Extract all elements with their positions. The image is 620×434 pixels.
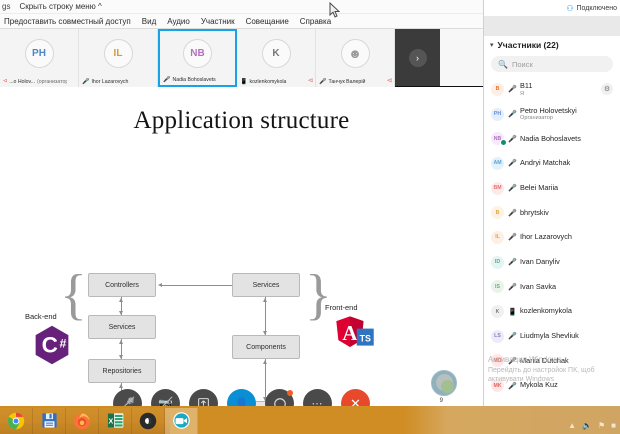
- avatar: AM: [491, 157, 504, 170]
- participant-sub: Я: [520, 91, 532, 97]
- backend-label: Back-end: [25, 312, 57, 321]
- avatar: IL: [104, 39, 133, 68]
- mic-off-icon: ⏿: [387, 77, 392, 85]
- avatar: IL: [491, 231, 504, 244]
- next-page-button[interactable]: ›: [395, 29, 440, 86]
- phone-icon: 📱: [508, 308, 516, 316]
- mic-icon: 🎤: [508, 332, 516, 340]
- mic-icon: 🎤: [163, 76, 170, 83]
- mic-off-icon: ⏿: [3, 78, 7, 85]
- arrow-up-icon: [119, 384, 123, 388]
- list-item[interactable]: B 🎤 B11 Я ⚙: [488, 77, 616, 102]
- participant-role: (организатор): [37, 79, 67, 85]
- arrow-down-icon: [119, 355, 123, 359]
- search-input[interactable]: [512, 60, 606, 69]
- thumbnail-name-bar: 📱 kozlenkomykola: [240, 78, 304, 85]
- svg-text:C: C: [42, 333, 58, 358]
- participant-name: Ihor Lazarovych: [91, 79, 128, 85]
- screen-root: gs Скрыть строку меню ^ Предоставить сов…: [0, 0, 620, 434]
- participant-name: Ivan Danyliv: [520, 258, 560, 266]
- participant-name: Ihor Lazarovych: [520, 233, 572, 241]
- list-item[interactable]: BM 🎤 Belei Mariia: [488, 176, 616, 201]
- backend-brace: {: [60, 267, 87, 323]
- angular-logo: A TS: [333, 315, 375, 349]
- avatar: MK: [491, 379, 504, 392]
- firefox-icon: [73, 412, 91, 430]
- video-thumbnail[interactable]: PH ⏿ ...o Holov... (организатор): [0, 29, 79, 87]
- participant-name: bhrytskiv: [520, 209, 549, 217]
- chevron-down-icon[interactable]: ▾: [490, 41, 494, 49]
- avatar: K: [491, 305, 504, 318]
- list-item[interactable]: MD 🎤 Mariia Dutchak: [488, 349, 616, 374]
- system-tray: ▲ 🔈 ⚑ ■: [568, 421, 616, 430]
- participant-name: Танчук Валерій: [328, 79, 365, 85]
- list-item[interactable]: B 🎤 bhrytskiv: [488, 200, 616, 225]
- battery-icon[interactable]: ■: [611, 421, 616, 430]
- show-hidden-icons-button[interactable]: ▲: [568, 421, 576, 430]
- video-thumbnail[interactable]: IL 🎤 Ihor Lazarovych: [79, 29, 158, 87]
- participant-name: Nadia Bohoslavets: [520, 135, 581, 143]
- connector: [160, 285, 232, 286]
- avatar: B: [491, 206, 504, 219]
- list-item[interactable]: MK 🎤 Mykola Kuz: [488, 373, 616, 398]
- csharp-logo: C #: [33, 325, 71, 365]
- avatar: BM: [491, 182, 504, 195]
- menu-item-meeting[interactable]: Совещание: [246, 17, 289, 26]
- menu-item-participant[interactable]: Участник: [201, 17, 235, 26]
- mic-icon: 🎤: [508, 357, 516, 365]
- participant-name: kozlenkomykola: [520, 307, 572, 315]
- taskbar: X ▲ 🔈: [0, 406, 620, 434]
- video-thumbnail-strip: PH ⏿ ...o Holov... (организатор) IL 🎤 Ih…: [0, 29, 483, 87]
- menu-item-audio[interactable]: Аудио: [167, 17, 190, 26]
- arrow-up-icon: [263, 298, 267, 302]
- taskbar-button-chrome[interactable]: [0, 408, 33, 434]
- svg-text:#: #: [59, 337, 66, 351]
- avatar: PH: [491, 108, 504, 121]
- connection-status: ⚇ Подключено: [484, 0, 620, 16]
- avatar: MD: [491, 354, 504, 367]
- thumbnail-name-bar: 🎤 Ihor Lazarovych: [82, 78, 146, 85]
- list-item[interactable]: IS 🎤 Ivan Savka: [488, 275, 616, 300]
- zoom-meeting-window: gs Скрыть строку меню ^ Предоставить сов…: [0, 0, 484, 406]
- participant-name: ...o Holov...: [9, 79, 35, 85]
- participant-name: kozlenkomykola: [249, 79, 286, 85]
- wifi-icon: ⚇: [566, 4, 573, 13]
- volume-icon[interactable]: 🔈: [582, 421, 592, 430]
- arrow-up-icon: [263, 360, 267, 364]
- svg-text:X: X: [108, 417, 113, 425]
- obs-icon: [139, 412, 157, 430]
- avatar-placeholder-icon: ☻: [341, 39, 370, 68]
- phone-icon: 📱: [240, 78, 247, 85]
- arrow-up-icon: [119, 340, 123, 344]
- taskbar-button-save[interactable]: [33, 408, 66, 434]
- participant-name: Ivan Savka: [520, 283, 556, 291]
- video-thumbnail-active[interactable]: NB 🎤 Nadia Bohoslavets: [158, 29, 237, 87]
- avatar: ID: [491, 256, 504, 269]
- mic-icon: 🎤: [508, 283, 516, 291]
- menu-item-help[interactable]: Справка: [300, 17, 331, 26]
- typescript-badge-label: TS: [360, 334, 371, 344]
- mic-icon: 🎤: [508, 209, 516, 217]
- avatar: NB: [183, 39, 212, 68]
- mic-icon: 🎤: [508, 85, 516, 93]
- avatar: IS: [491, 280, 504, 293]
- taskbar-button-firefox[interactable]: [66, 408, 99, 434]
- participant-name: Andryi Matchak: [520, 159, 570, 167]
- video-thumbnail[interactable]: ☻ 🎤 Танчук Валерій ⏿: [316, 29, 395, 87]
- search-box[interactable]: 🔍: [491, 56, 613, 72]
- avatar: PH: [25, 39, 54, 68]
- save-icon: [41, 412, 58, 429]
- window-chrome-bar: gs Скрыть строку меню ^: [0, 0, 483, 14]
- list-item[interactable]: ID 🎤 Ivan Danyliv: [488, 250, 616, 275]
- arrow-up-icon: [119, 298, 123, 302]
- chat-badge: [287, 390, 293, 396]
- menu-bar: Предоставить совместный доступ Вид Аудио…: [0, 14, 483, 29]
- mic-icon: 🎤: [508, 233, 516, 241]
- search-container: 🔍: [484, 54, 620, 77]
- box-services-backend: Services: [88, 315, 156, 339]
- mouse-cursor: [329, 2, 340, 18]
- page-title: Application structure: [0, 107, 483, 135]
- menu-item-share[interactable]: Предоставить совместный доступ: [4, 17, 131, 26]
- excel-icon: X: [107, 412, 124, 429]
- box-components: Components: [232, 335, 300, 359]
- gear-icon[interactable]: ⚙: [601, 83, 613, 95]
- taskbar-button-excel[interactable]: X: [99, 408, 132, 434]
- arrow-down-icon: [119, 311, 123, 315]
- chevron-right-icon: ›: [409, 49, 427, 67]
- participants-panel: ⚇ Подключено ▾ Участники (22) 🔍 B 🎤 B11 …: [484, 0, 620, 406]
- list-item[interactable]: AM 🎤 Andryi Matchak: [488, 151, 616, 176]
- taskbar-background: [170, 406, 620, 434]
- panel-spacer: [484, 16, 620, 36]
- arrow-left-icon: [158, 283, 162, 287]
- thumbnail-name-bar: 🎤 Nadia Bohoslavets: [163, 76, 224, 83]
- box-controllers: Controllers: [88, 273, 156, 297]
- avatar: LS: [491, 330, 504, 343]
- zoom-icon: [172, 411, 191, 430]
- list-item[interactable]: K 📱 kozlenkomykola: [488, 299, 616, 324]
- mic-off-icon: ⏿: [308, 77, 313, 85]
- chrome-partial-label: gs: [2, 2, 10, 11]
- avatar: K: [262, 39, 291, 68]
- svg-text:A: A: [342, 321, 358, 345]
- participants-title: Участники (22): [498, 40, 559, 50]
- mic-icon: 🎤: [319, 78, 326, 85]
- mic-icon: 🎤: [508, 184, 516, 192]
- frontend-brace: {: [305, 267, 332, 323]
- mic-icon: 🎤: [508, 110, 516, 118]
- participant-name: Mariia Dutchak: [520, 357, 569, 365]
- participant-name: Liudmyla Shevliuk: [520, 332, 579, 340]
- mic-icon: 🎤: [508, 135, 516, 143]
- mic-icon: 🎤: [508, 382, 516, 390]
- participants-header[interactable]: ▾ Участники (22): [484, 36, 620, 54]
- box-repositories: Repositories: [88, 359, 156, 383]
- mic-icon: 🎤: [508, 258, 516, 266]
- list-item[interactable]: LS 🎤 Liudmyla Shevliuk: [488, 324, 616, 349]
- taskbar-button-obs[interactable]: [132, 408, 165, 434]
- participant-name: Petro Holovetskyi: [520, 107, 577, 115]
- participants-list[interactable]: B 🎤 B11 Я ⚙ PH 🎤 Petro Holovetskyi Орган…: [484, 77, 620, 406]
- thumbnail-name-bar: 🎤 Танчук Валерій: [319, 78, 383, 85]
- participant-sub: Организатор: [520, 115, 577, 121]
- participant-name: Nadia Bohoslavets: [172, 77, 215, 83]
- video-thumbnail[interactable]: K 📱 kozlenkomykola ⏿: [237, 29, 316, 87]
- participant-text: B11 Я: [520, 82, 532, 96]
- participant-name: Mykola Kuz: [520, 381, 558, 389]
- avatar: B: [491, 83, 504, 96]
- menu-item-view[interactable]: Вид: [142, 17, 156, 26]
- mic-icon: 🎤: [508, 159, 516, 167]
- connector: [265, 297, 266, 335]
- shared-slide: Application structure Back-end C # { Fro…: [0, 87, 483, 420]
- network-icon[interactable]: ⚑: [598, 421, 605, 430]
- connection-status-label: Подключено: [577, 5, 617, 12]
- taskbar-button-zoom[interactable]: [165, 408, 198, 434]
- list-item[interactable]: PH 🎤 Petro Holovetskyi Организатор: [488, 102, 616, 127]
- participant-text: Petro Holovetskyi Организатор: [520, 107, 577, 121]
- list-item[interactable]: IL 🎤 Ihor Lazarovych: [488, 225, 616, 250]
- participant-name: B11: [520, 82, 532, 90]
- chrome-icon: [7, 412, 25, 430]
- arrow-down-icon: [263, 331, 267, 335]
- shield-icon: [500, 139, 507, 146]
- mic-icon: 🎤: [82, 78, 89, 85]
- box-services-frontend: Services: [232, 273, 300, 297]
- list-item[interactable]: NB 🎤 Nadia Bohoslavets: [488, 126, 616, 151]
- search-icon: 🔍: [498, 60, 508, 69]
- hide-menu-bar-button[interactable]: Скрыть строку меню ^: [19, 2, 101, 11]
- participant-name: Belei Mariia: [520, 184, 558, 192]
- thumbnail-name-bar: ⏿ ...o Holov... (организатор): [3, 78, 67, 85]
